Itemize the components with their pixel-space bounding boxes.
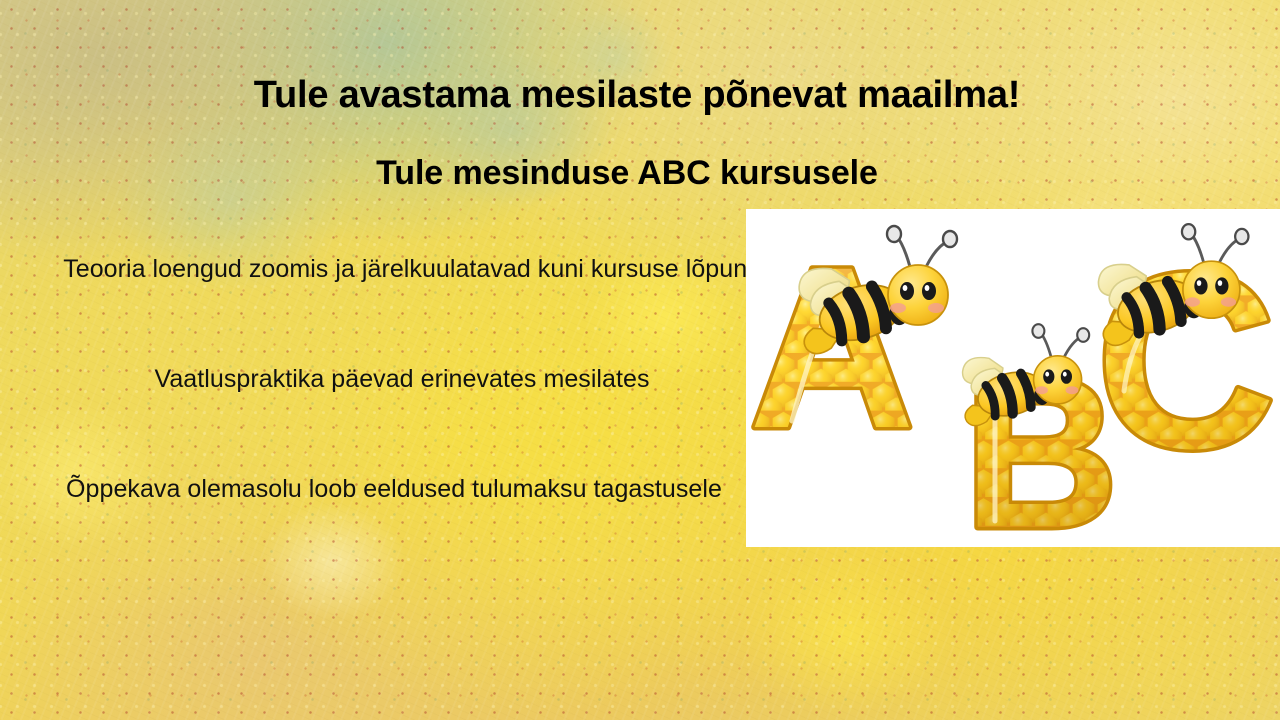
body-paragraph-2: Vaatluspraktika päevad erinevates mesila… — [36, 360, 780, 398]
slide-title: Tule avastama mesilaste põnevat maailma! — [0, 74, 1280, 117]
slide-canvas: Tule avastama mesilaste põnevat maailma!… — [0, 0, 1280, 720]
honeycomb-abc-illustration: A B C A — [746, 209, 1280, 547]
body-text-column: Teooria loengud zoomis ja järelkuulatava… — [36, 250, 780, 508]
body-paragraph-1: Teooria loengud zoomis ja järelkuulatava… — [36, 250, 780, 288]
slide-subtitle: Tule mesinduse ABC kursusele — [0, 154, 1280, 193]
body-paragraph-3: Õppekava olemasolu loob eeldused tulumak… — [36, 470, 780, 508]
abc-image-panel: A B C A — [746, 209, 1280, 547]
